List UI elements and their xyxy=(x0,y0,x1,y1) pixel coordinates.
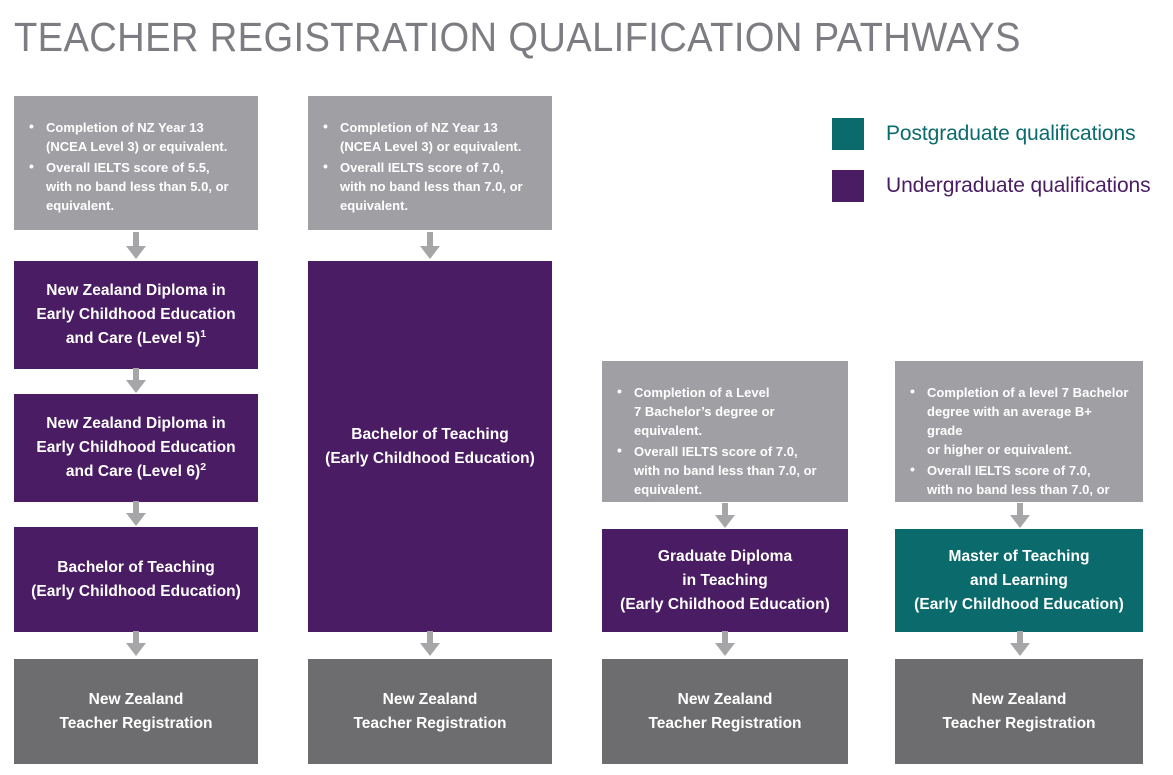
requirements-box-column-4: Completion of a level 7 Bachelor degree … xyxy=(895,361,1143,502)
requirements-box-column-3: Completion of a Level 7 Bachelor’s degre… xyxy=(602,361,848,502)
footnote-marker: 1 xyxy=(200,328,206,340)
arrow-down-icon xyxy=(712,503,738,529)
arrow-down-icon xyxy=(123,368,149,394)
legend-label-postgraduate: Postgraduate qualifications xyxy=(886,122,1135,146)
registration-box-column-4: New Zealand Teacher Registration xyxy=(895,659,1143,764)
arrow-down-icon xyxy=(712,631,738,657)
requirement-item: Completion of a Level 7 Bachelor’s degre… xyxy=(614,383,834,440)
teal-swatch-icon xyxy=(832,118,864,150)
registration-box-column-2: New Zealand Teacher Registration xyxy=(308,659,552,764)
page-title: TEACHER REGISTRATION QUALIFICATION PATHW… xyxy=(14,13,1021,61)
requirement-item: Completion of NZ Year 13 (NCEA Level 3) … xyxy=(26,118,244,156)
requirement-item: Overall IELTS score of 7.0, with no band… xyxy=(320,158,538,215)
requirements-box-column-1: Completion of NZ Year 13 (NCEA Level 3) … xyxy=(14,96,258,230)
requirement-item: Overall IELTS score of 7.0, with no band… xyxy=(614,442,834,499)
qualification-box-nz-diploma-ece-level-6: New Zealand Diploma in Early Childhood E… xyxy=(14,394,258,502)
footnote-marker: 2 xyxy=(200,461,206,473)
arrow-down-icon xyxy=(417,232,443,260)
arrow-down-icon xyxy=(123,631,149,657)
qualification-box-nz-diploma-ece-level-5: New Zealand Diploma in Early Childhood E… xyxy=(14,261,258,369)
arrow-down-icon xyxy=(417,631,443,657)
arrow-down-icon xyxy=(1007,503,1033,529)
purple-swatch-icon xyxy=(832,170,864,202)
arrow-down-icon xyxy=(123,501,149,527)
qualification-box-master-of-teaching-and-learning-ece: Master of Teaching and Learning (Early C… xyxy=(895,529,1143,632)
legend-item-undergraduate: Undergraduate qualifications xyxy=(832,170,1162,202)
requirement-item: Completion of NZ Year 13 (NCEA Level 3) … xyxy=(320,118,538,156)
qualification-box-bachelor-of-teaching-ece-col2: Bachelor of Teaching (Early Childhood Ed… xyxy=(308,261,552,632)
registration-box-column-3: New Zealand Teacher Registration xyxy=(602,659,848,764)
registration-box-column-1: New Zealand Teacher Registration xyxy=(14,659,258,764)
requirements-box-column-2: Completion of NZ Year 13 (NCEA Level 3) … xyxy=(308,96,552,230)
requirement-item: Overall IELTS score of 5.5, with no band… xyxy=(26,158,244,215)
legend-label-undergraduate: Undergraduate qualifications xyxy=(886,174,1151,198)
legend-item-postgraduate: Postgraduate qualifications xyxy=(832,118,1162,150)
legend: Postgraduate qualifications Undergraduat… xyxy=(832,118,1162,222)
qualification-box-graduate-diploma-in-teaching-ece: Graduate Diploma in Teaching (Early Chil… xyxy=(602,529,848,632)
arrow-down-icon xyxy=(123,232,149,260)
qualification-box-bachelor-of-teaching-ece-col1: Bachelor of Teaching (Early Childhood Ed… xyxy=(14,527,258,632)
requirement-item: Completion of a level 7 Bachelor degree … xyxy=(907,383,1129,459)
arrow-down-icon xyxy=(1007,631,1033,657)
